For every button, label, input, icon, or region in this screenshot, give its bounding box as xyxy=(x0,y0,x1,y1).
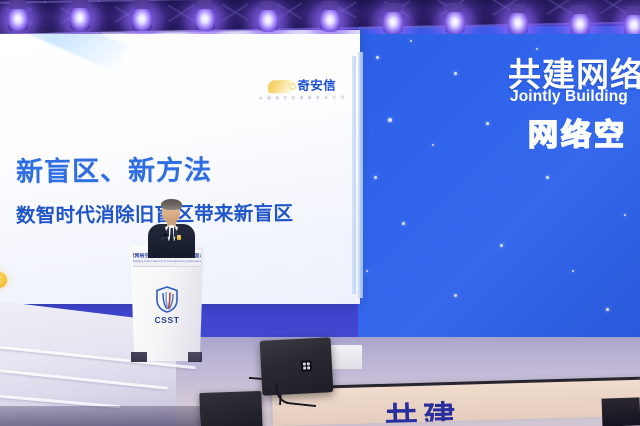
banner-headline-en: Jointly Building xyxy=(510,88,628,106)
podium-logo: CSST xyxy=(152,286,182,330)
screen-frame-edge-inner xyxy=(352,56,356,294)
conference-stage-photo: 共建网络 Jointly Building 网络空 奇安信 中 国 领 先 的 … xyxy=(0,0,640,426)
star-dot xyxy=(432,144,434,146)
csst-shield-icon xyxy=(155,286,179,313)
speaker-figure xyxy=(148,198,196,256)
spotlight-11 xyxy=(624,15,640,34)
star-dot xyxy=(500,244,503,247)
monitor-port-panel-icon xyxy=(301,360,313,372)
star-dot xyxy=(454,72,457,75)
star-dot xyxy=(486,122,489,125)
spotlight-10 xyxy=(570,14,590,34)
star-dot xyxy=(402,222,405,225)
spotlight-housing xyxy=(134,0,150,9)
spotlight-7 xyxy=(383,12,403,34)
star-dot xyxy=(624,214,626,216)
speaker-hair xyxy=(161,199,182,210)
slide-brand-logo: 奇安信 中 国 领 先 的 网 络 安 全 公 司 xyxy=(259,80,346,101)
stage-base-shadow xyxy=(0,406,200,426)
stage-white-box xyxy=(330,345,362,369)
star-dot xyxy=(454,294,457,297)
spotlight-housing xyxy=(447,3,463,12)
spotlight-housing xyxy=(10,0,26,9)
star-dot xyxy=(376,56,379,59)
spotlight-9 xyxy=(508,13,528,34)
csst-wordmark: CSST xyxy=(154,315,179,325)
spotlight-8 xyxy=(445,12,465,34)
slide-brand-tagline: 中 国 领 先 的 网 络 安 全 公 司 xyxy=(259,95,346,101)
podium-banner-en: Jointly Building Cyber Security & Streng… xyxy=(133,260,201,263)
star-dot xyxy=(366,270,368,272)
overhead-lighting-truss xyxy=(0,0,640,34)
star-dot xyxy=(388,118,392,122)
banner-subline-cn: 网络空 xyxy=(528,110,627,154)
spotlight-4 xyxy=(195,9,215,31)
speaker-badge-pin xyxy=(177,235,181,240)
spotlight-housing xyxy=(72,0,88,8)
spotlight-housing xyxy=(260,1,276,10)
spotlight-housing xyxy=(572,5,588,14)
spotlight-6 xyxy=(320,10,340,32)
stage-floor-speaker xyxy=(199,391,262,426)
podium-foot-right xyxy=(188,352,202,362)
spotlight-housing xyxy=(322,1,338,10)
star-dot xyxy=(572,270,574,272)
spotlight-housing xyxy=(385,3,401,12)
bottom-banner-shadow-right xyxy=(602,397,640,426)
star-dot xyxy=(410,40,412,42)
slide-title: 新盲区、新方法 xyxy=(16,157,212,187)
star-dot xyxy=(546,176,549,179)
slide-brand-name: 奇安信 xyxy=(297,80,336,93)
spotlight-housing xyxy=(626,6,640,15)
microphone-head-icon xyxy=(163,233,168,237)
bottom-banner-text: 共建 xyxy=(384,391,461,426)
star-dot xyxy=(374,176,377,179)
star-dot xyxy=(606,308,609,311)
podium-foot-left xyxy=(131,352,147,362)
spotlight-5 xyxy=(258,10,278,32)
backdrop-banner-panel: 共建网络 Jointly Building 网络空 xyxy=(358,26,640,338)
spotlight-housing xyxy=(197,0,213,9)
spotlight-2 xyxy=(70,8,90,30)
qianxin-mark-icon xyxy=(268,80,294,93)
spotlight-1 xyxy=(8,9,28,31)
screen-frame-edge xyxy=(358,52,363,298)
spotlight-3 xyxy=(132,9,152,31)
spotlight-housing xyxy=(510,4,526,13)
